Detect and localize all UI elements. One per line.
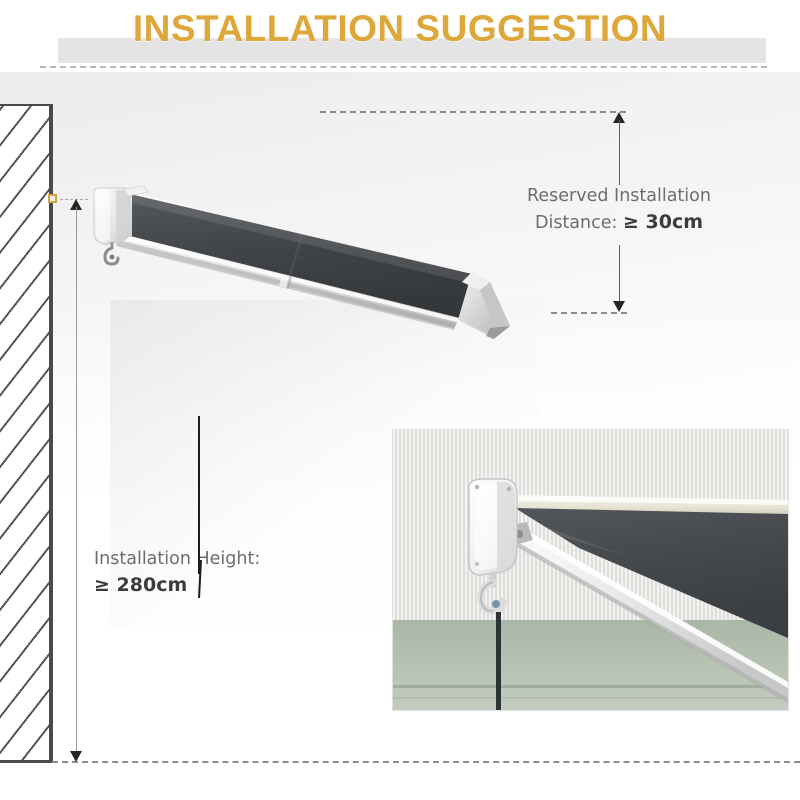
reserved-distance-value: ≥ 30cm — [623, 211, 703, 233]
awning-top-reference-line — [551, 312, 627, 314]
ceiling-reference-line — [320, 111, 626, 113]
installation-height-arrow-down — [70, 751, 82, 762]
retractable-patio-awning — [86, 178, 556, 363]
building-wall-section — [0, 104, 53, 763]
photo-crank-rod — [496, 612, 501, 710]
clearance-dimension-lower — [619, 245, 620, 302]
wall-hatch-pattern — [0, 106, 49, 760]
installation-height-line1: Installation Height: — [94, 546, 260, 572]
ground-reference-line — [52, 761, 800, 763]
title-divider — [40, 66, 767, 68]
page-title: INSTALLATION SUGGESTION — [0, 8, 800, 50]
installation-height-value: ≥ 280cm — [94, 574, 187, 596]
installation-height-dimension — [76, 207, 77, 755]
clearance-arrow-down — [613, 301, 625, 312]
installation-height-line2: ≥ 280cm — [94, 572, 260, 599]
installation-height-callout: Installation Height: ≥ 280cm — [94, 546, 260, 599]
installation-suggestion-diagram: INSTALLATION SUGGESTION Reserved Install… — [0, 0, 800, 800]
photo-bracket-illustration — [393, 430, 788, 710]
wall-mount-anchor-point — [48, 194, 57, 203]
awning-illustration — [86, 178, 556, 363]
awning-hand-crank-cord — [198, 416, 200, 574]
wall-bracket-detail-photo — [393, 430, 788, 710]
clearance-dimension-upper — [619, 120, 620, 185]
